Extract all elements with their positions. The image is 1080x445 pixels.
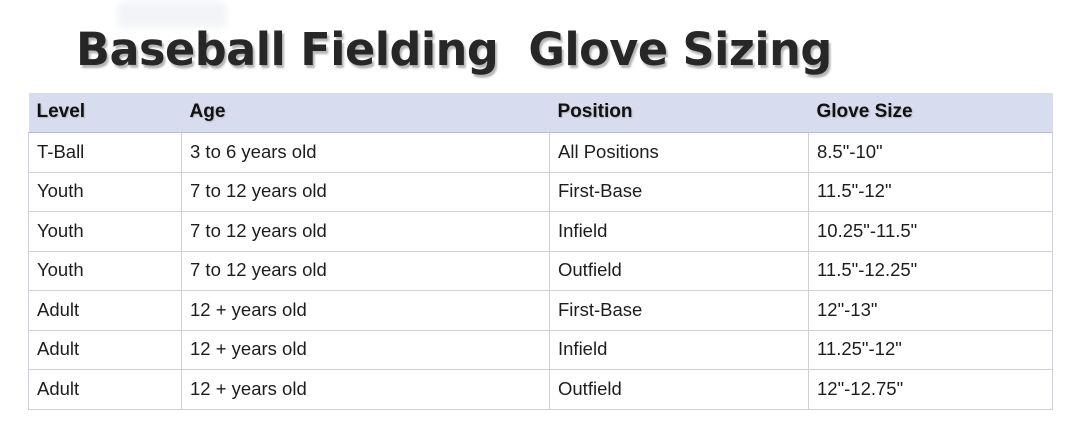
- cell-position: Outfield: [550, 370, 809, 410]
- cell-glove-size: 12"-13": [809, 291, 1053, 331]
- cell-glove-size: 10.25"-11.5": [809, 212, 1053, 252]
- cell-glove-size: 11.5"-12": [809, 172, 1053, 212]
- cell-position: All Positions: [550, 133, 809, 173]
- table-row: T-Ball 3 to 6 years old All Positions 8.…: [29, 133, 1053, 173]
- cell-age: 7 to 12 years old: [182, 251, 550, 291]
- cell-position: Infield: [550, 212, 809, 252]
- cell-age: 7 to 12 years old: [182, 172, 550, 212]
- table-row: Youth 7 to 12 years old First-Base 11.5"…: [29, 172, 1053, 212]
- table-row: Adult 12 + years old First-Base 12"-13": [29, 291, 1053, 331]
- cell-glove-size: 8.5"-10": [809, 133, 1053, 173]
- glove-sizing-table: Level Age Position Glove Size T-Ball 3 t…: [28, 93, 1053, 410]
- table-row: Youth 7 to 12 years old Outfield 11.5"-1…: [29, 251, 1053, 291]
- table-header-row: Level Age Position Glove Size: [29, 93, 1053, 133]
- column-header-level: Level: [29, 93, 182, 133]
- cell-glove-size: 11.5"-12.25": [809, 251, 1053, 291]
- table-row: Adult 12 + years old Infield 11.25"-12": [29, 330, 1053, 370]
- cell-position: Infield: [550, 330, 809, 370]
- cell-age: 12 + years old: [182, 370, 550, 410]
- cell-level: Youth: [29, 212, 182, 252]
- cell-level: Youth: [29, 251, 182, 291]
- table-body: T-Ball 3 to 6 years old All Positions 8.…: [29, 133, 1053, 410]
- cell-level: Youth: [29, 172, 182, 212]
- cell-level: T-Ball: [29, 133, 182, 173]
- cell-level: Adult: [29, 291, 182, 331]
- cell-position: First-Base: [550, 172, 809, 212]
- table-row: Youth 7 to 12 years old Infield 10.25"-1…: [29, 212, 1053, 252]
- table-row: Adult 12 + years old Outfield 12"-12.75": [29, 370, 1053, 410]
- cell-position: Outfield: [550, 251, 809, 291]
- column-header-age: Age: [182, 93, 550, 133]
- cell-level: Adult: [29, 330, 182, 370]
- cell-glove-size: 11.25"-12": [809, 330, 1053, 370]
- cell-age: 3 to 6 years old: [182, 133, 550, 173]
- cell-age: 12 + years old: [182, 330, 550, 370]
- cell-position: First-Base: [550, 291, 809, 331]
- cell-level: Adult: [29, 370, 182, 410]
- page-title: Baseball Fielding Glove Sizing: [76, 22, 832, 78]
- column-header-position: Position: [550, 93, 809, 133]
- column-header-glove-size: Glove Size: [809, 93, 1053, 133]
- cell-age: 12 + years old: [182, 291, 550, 331]
- cell-glove-size: 12"-12.75": [809, 370, 1053, 410]
- cell-age: 7 to 12 years old: [182, 212, 550, 252]
